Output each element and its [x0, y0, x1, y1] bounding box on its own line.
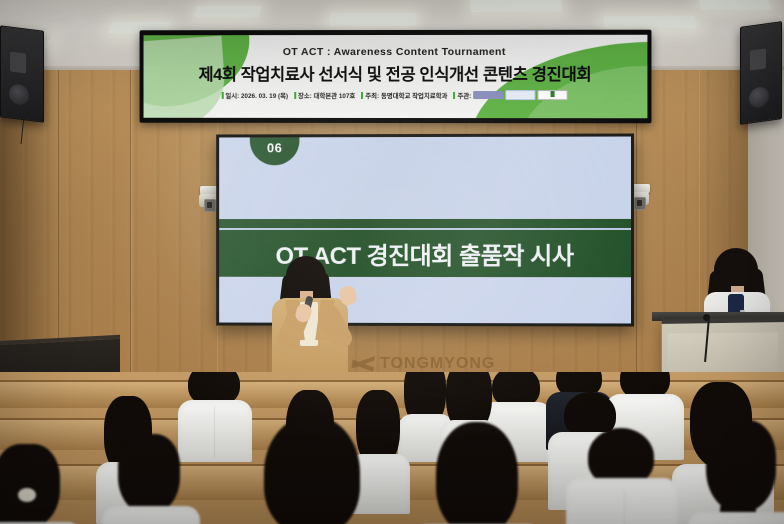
audience-long-hair	[436, 422, 518, 524]
audience-lab-coat	[566, 478, 678, 524]
slide-band-thin	[219, 219, 631, 228]
banner-meta-organizer-label: 주관:	[458, 91, 472, 100]
banner-meta-organizer: 주관:	[453, 90, 567, 100]
led-banner-display: OT ACT : Awareness Content Tournament 제4…	[140, 30, 652, 124]
ceiling-light-panel	[194, 6, 262, 17]
green-bar-icon	[294, 91, 296, 98]
speaker-cone	[9, 83, 29, 105]
wall-logo-text: TONGMYONG	[380, 355, 495, 373]
banner-title: 제4회 작업치료사 선서식 및 전공 인식개선 콘텐츠 경진대회	[144, 61, 648, 85]
loudspeaker-left	[0, 25, 44, 122]
audience-long-hair	[264, 416, 360, 524]
tiered-seating-area	[0, 372, 784, 524]
banner-meta-place-label: 장소: 대학본관 107호	[298, 90, 355, 99]
green-bar-icon	[361, 91, 363, 98]
banner-meta-place: 장소: 대학본관 107호	[294, 90, 355, 99]
banner-meta-row: 일시: 2026. 03. 19 (목) 장소: 대학본관 107호 주최: 동…	[144, 90, 648, 100]
banner-surface: OT ACT : Awareness Content Tournament 제4…	[144, 35, 648, 118]
speaker-port	[10, 52, 26, 74]
coat-seam	[624, 490, 625, 524]
banner-meta-date: 일시: 2026. 03. 19 (목)	[221, 90, 288, 99]
ceiling-light-panel	[603, 16, 697, 28]
ceiling-light-panel	[470, 0, 562, 12]
banner-subtitle: OT ACT : Awareness Content Tournament	[144, 46, 648, 58]
sponsor-logo-2-icon	[506, 90, 536, 100]
lectern-microphone-head-icon	[703, 314, 710, 321]
audience-long-hair	[118, 434, 180, 514]
loudspeaker-right	[740, 21, 782, 125]
auditorium-photo: OT ACT : Awareness Content Tournament 제4…	[0, 0, 784, 524]
coat-seam	[214, 406, 215, 458]
ceiling-light-panel	[329, 13, 417, 26]
camera-lens	[634, 197, 646, 210]
sponsor-logo-1-icon	[473, 91, 503, 99]
banner-meta-date-label: 일시: 2026. 03. 19 (목)	[225, 90, 288, 99]
green-bar-icon	[453, 92, 455, 99]
hair-scrunchie	[18, 488, 36, 502]
audience-lab-coat	[688, 512, 784, 524]
ceiling-light-panel	[699, 0, 772, 10]
main-speaker	[262, 256, 366, 380]
camera-lens	[204, 199, 216, 212]
audience-lab-coat	[178, 400, 252, 462]
sponsor-logo-3-icon	[538, 90, 568, 100]
speaker-cone	[749, 86, 769, 109]
speaker-port	[750, 48, 766, 70]
audience-lab-coat	[102, 506, 200, 524]
banner-meta-host: 주최: 동명대학교 작업치료학과	[361, 90, 447, 99]
wall-panel-seam	[58, 70, 132, 380]
banner-meta-host-label: 주최: 동명대학교 작업치료학과	[365, 90, 447, 99]
green-bar-icon	[221, 91, 223, 98]
